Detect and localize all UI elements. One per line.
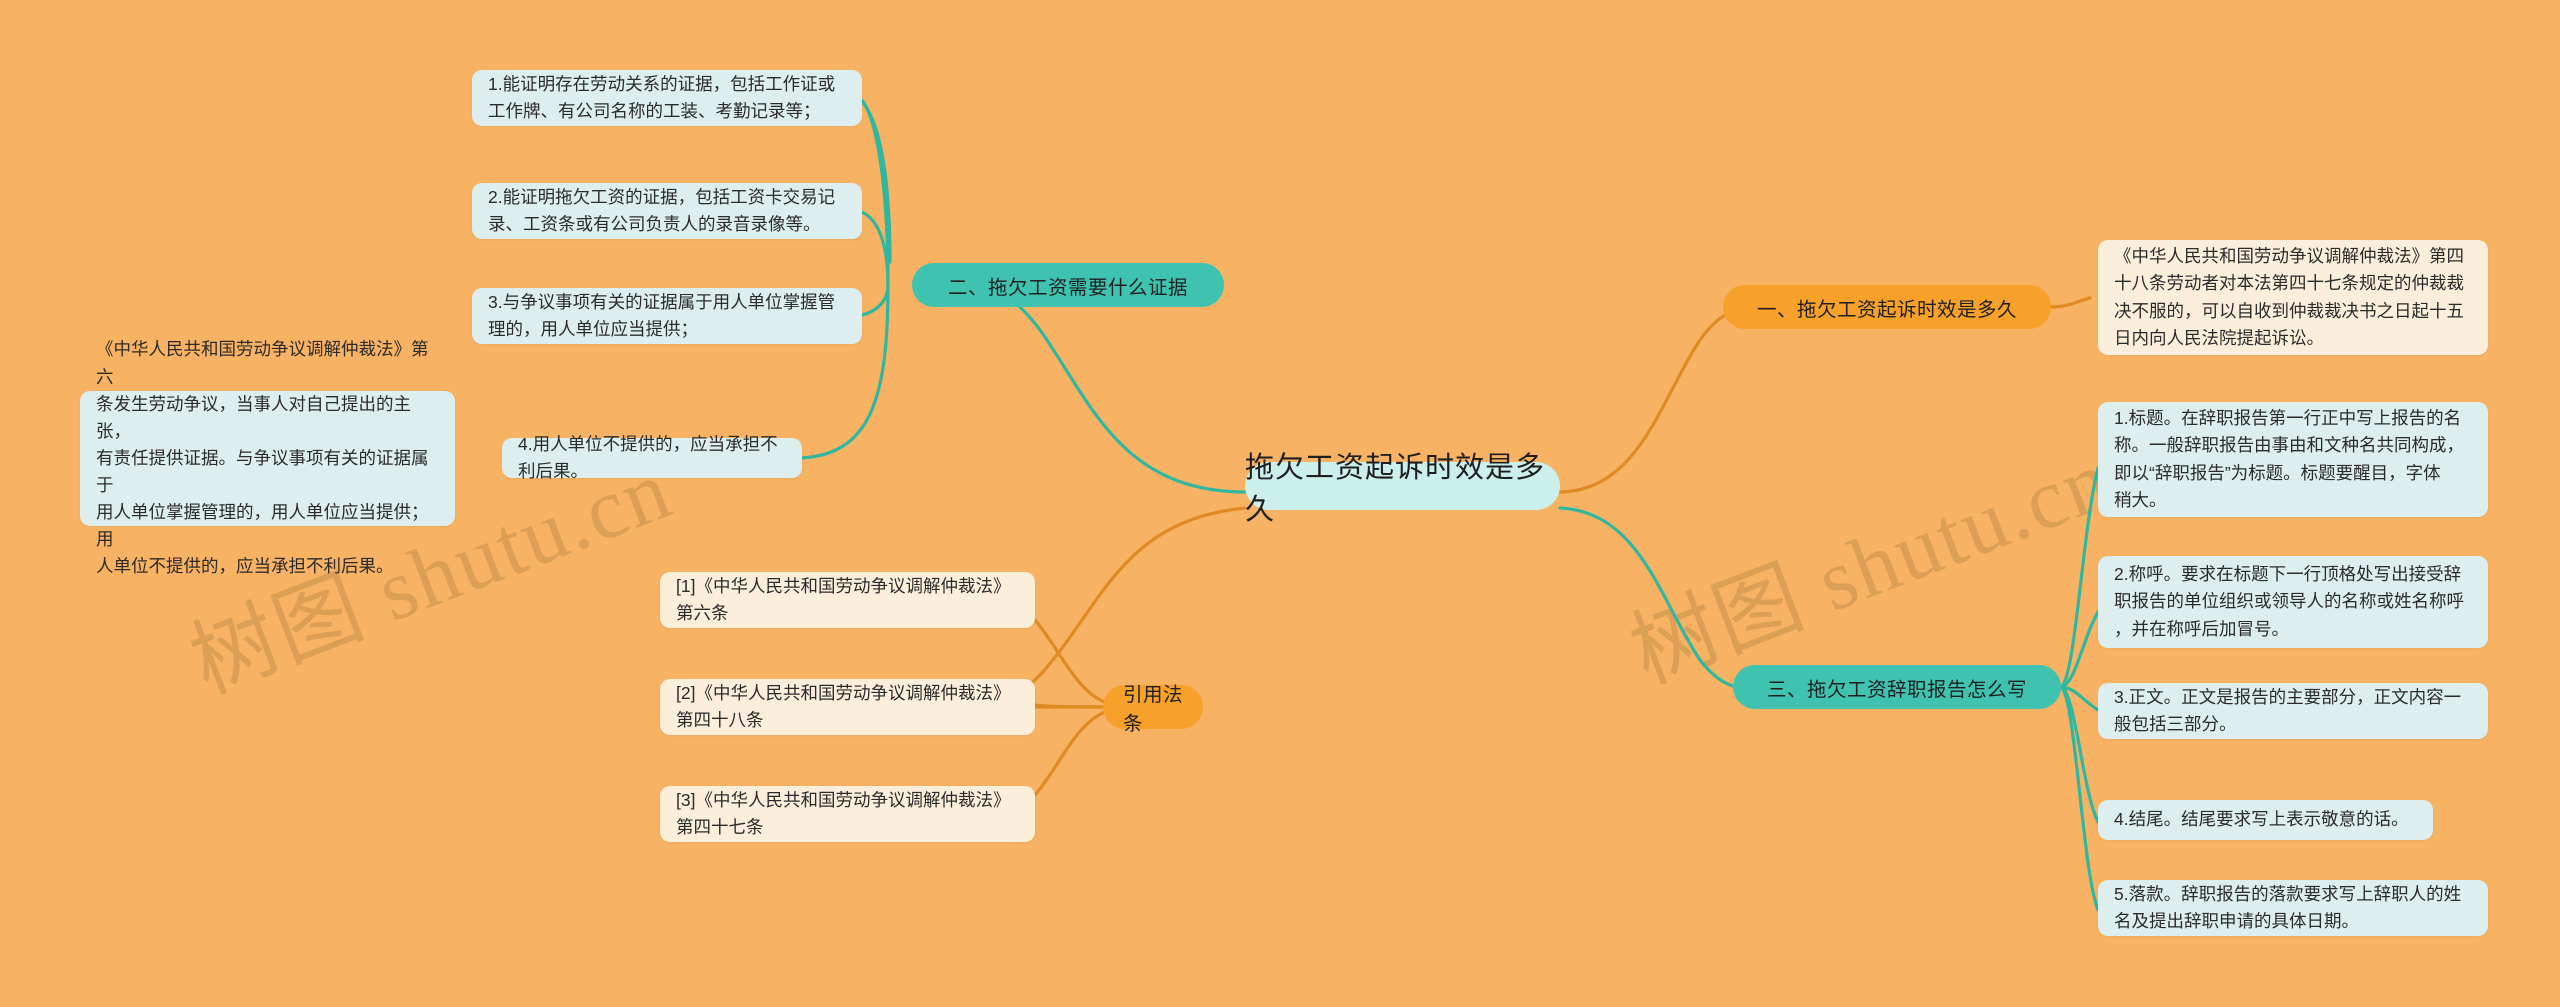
leaf-law-article-6[interactable]: 《中华人民共和国劳动争议调解仲裁法》第六 条发生劳动争议，当事人对自己提出的主张… — [80, 391, 455, 526]
link-central-to-branch2 — [942, 285, 1245, 492]
link-branch3-leaf4 — [2060, 687, 2098, 822]
leaf-resign-5-text: 5.落款。辞职报告的落款要求写上辞职人的姓 名及提出辞职申请的具体日期。 — [2114, 881, 2461, 935]
branch-pill-resignation[interactable]: 三、拖欠工资辞职报告怎么写 — [1733, 665, 2061, 709]
branch-label-resignation: 三、拖欠工资辞职报告怎么写 — [1767, 673, 2027, 702]
branch-label-citations: 引用法条 — [1123, 678, 1183, 736]
leaf-resign-5[interactable]: 5.落款。辞职报告的落款要求写上辞职人的姓 名及提出辞职申请的具体日期。 — [2098, 880, 2488, 936]
leaf-evidence-4[interactable]: 4.用人单位不提供的，应当承担不利后果。 — [502, 438, 802, 478]
branch-pill-limitation[interactable]: 一、拖欠工资起诉时效是多久 — [1723, 285, 2051, 329]
leaf-limitation-1[interactable]: 《中华人民共和国劳动争议调解仲裁法》第四 十八条劳动者对本法第四十七条规定的仲裁… — [2098, 240, 2488, 355]
leaf-law-article-6-text: 《中华人民共和国劳动争议调解仲裁法》第六 条发生劳动争议，当事人对自己提出的主张… — [96, 336, 439, 580]
branch-pill-citations[interactable]: 引用法条 — [1103, 685, 1203, 729]
leaf-evidence-2[interactable]: 2.能证明拖欠工资的证据，包括工资卡交易记 录、工资条或有公司负责人的录音录像等… — [472, 183, 862, 239]
leaf-evidence-1[interactable]: 1.能证明存在劳动关系的证据，包括工作证或 工作牌、有公司名称的工装、考勤记录等… — [472, 70, 862, 126]
leaf-resign-4[interactable]: 4.结尾。结尾要求写上表示敬意的话。 — [2098, 800, 2433, 840]
leaf-evidence-3[interactable]: 3.与争议事项有关的证据属于用人单位掌握管 理的，用人单位应当提供； — [472, 288, 862, 344]
link-branch3-leaf2 — [2060, 612, 2098, 687]
central-topic-label: 拖欠工资起诉时效是多久 — [1245, 444, 1560, 528]
leaf-evidence-1-text: 1.能证明存在劳动关系的证据，包括工作证或 工作牌、有公司名称的工装、考勤记录等… — [488, 71, 835, 125]
leaf-citation-2-text: [2]《中华人民共和国劳动争议调解仲裁法》 第四十八条 — [676, 680, 1010, 734]
leaf-citation-1-text: [1]《中华人民共和国劳动争议调解仲裁法》 第六条 — [676, 573, 1010, 627]
leaf-resign-4-text: 4.结尾。结尾要求写上表示敬意的话。 — [2114, 806, 2409, 833]
link-branch1-leaf1 — [2050, 298, 2090, 307]
watermark-right: 树图 shutu.cn — [1610, 409, 2126, 707]
leaf-evidence-3-text: 3.与争议事项有关的证据属于用人单位掌握管 理的，用人单位应当提供； — [488, 289, 835, 343]
leaf-citation-2[interactable]: [2]《中华人民共和国劳动争议调解仲裁法》 第四十八条 — [660, 679, 1035, 735]
leaf-resign-3-text: 3.正文。正文是报告的主要部分，正文内容一 般包括三部分。 — [2114, 684, 2461, 738]
link-branch2-leaf3 — [858, 285, 888, 316]
link-branch2-leaf2 — [858, 211, 888, 285]
central-topic[interactable]: 拖欠工资起诉时效是多久 — [1245, 462, 1560, 510]
branch-label-evidence: 二、拖欠工资需要什么证据 — [948, 271, 1188, 300]
leaf-resign-2[interactable]: 2.称呼。要求在标题下一行顶格处写出接受辞 职报告的单位组织或领导人的名称或姓名… — [2098, 556, 2488, 648]
branch-label-limitation: 一、拖欠工资起诉时效是多久 — [1757, 293, 2017, 322]
link-branch3-leaf5 — [2060, 687, 2098, 910]
mindmap-canvas: 树图 shutu.cn 树图 shutu.cn — [0, 0, 2560, 1007]
link-branch3-leaf3 — [2060, 687, 2098, 710]
leaf-limitation-1-text: 《中华人民共和国劳动争议调解仲裁法》第四 十八条劳动者对本法第四十七条规定的仲裁… — [2114, 243, 2464, 352]
branch-pill-evidence[interactable]: 二、拖欠工资需要什么证据 — [912, 263, 1224, 307]
leaf-evidence-4-text: 4.用人单位不提供的，应当承担不利后果。 — [518, 431, 786, 485]
leaf-resign-3[interactable]: 3.正文。正文是报告的主要部分，正文内容一 般包括三部分。 — [2098, 683, 2488, 739]
leaf-citation-1[interactable]: [1]《中华人民共和国劳动争议调解仲裁法》 第六条 — [660, 572, 1035, 628]
link-central-to-branch1 — [1560, 306, 1790, 492]
leaf-resign-1-text: 1.标题。在辞职报告第一行正中写上报告的名 称。一般辞职报告由事由和文种名共同构… — [2114, 405, 2464, 514]
leaf-evidence-2-text: 2.能证明拖欠工资的证据，包括工资卡交易记 录、工资条或有公司负责人的录音录像等… — [488, 184, 835, 238]
leaf-resign-2-text: 2.称呼。要求在标题下一行顶格处写出接受辞 职报告的单位组织或领导人的名称或姓名… — [2114, 561, 2464, 642]
leaf-citation-3-text: [3]《中华人民共和国劳动争议调解仲裁法》 第四十七条 — [676, 787, 1010, 841]
leaf-citation-3[interactable]: [3]《中华人民共和国劳动争议调解仲裁法》 第四十七条 — [660, 786, 1035, 842]
link-central-to-branch3 — [1560, 508, 1790, 689]
leaf-resign-1[interactable]: 1.标题。在辞职报告第一行正中写上报告的名 称。一般辞职报告由事由和文种名共同构… — [2098, 402, 2488, 517]
link-branch3-leaf1 — [2060, 468, 2098, 687]
